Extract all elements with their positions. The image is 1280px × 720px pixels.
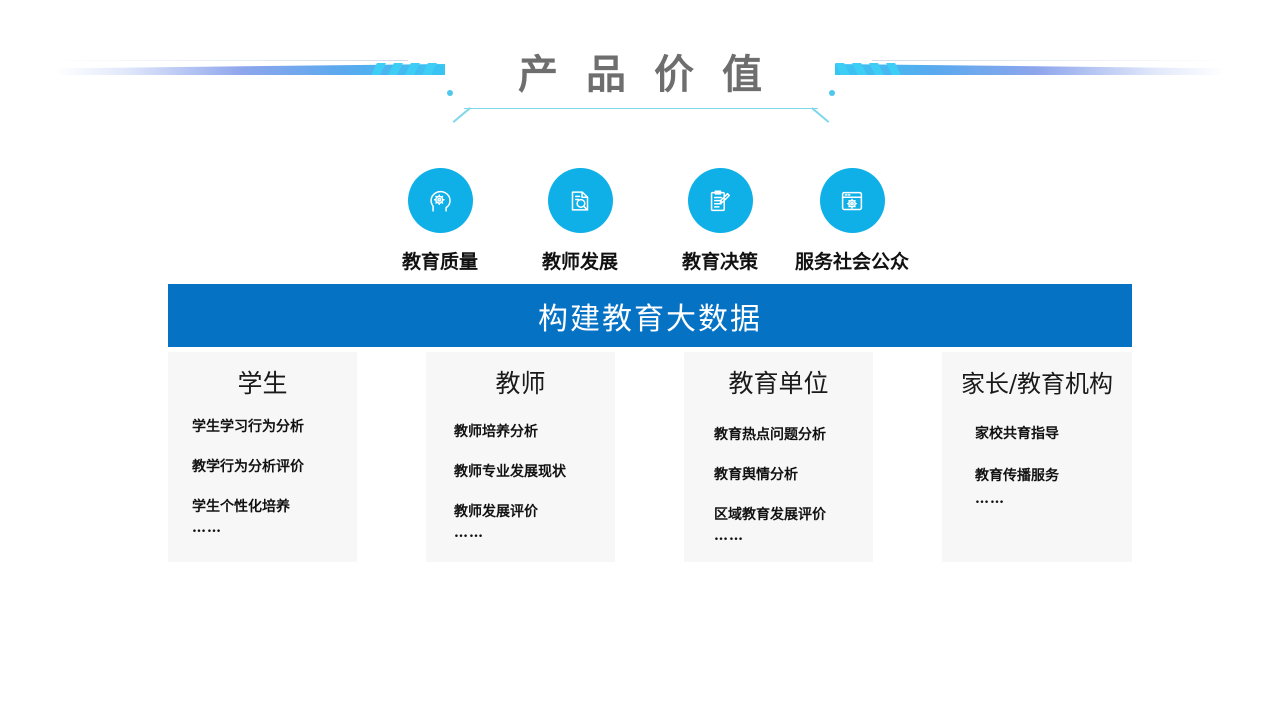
card-item-ellipsis: …… — [192, 520, 357, 536]
card-item-list: 家校共育指导 教育传播服务 …… — [942, 423, 1132, 507]
value-item-label: 教育质量 — [370, 247, 510, 274]
head-gear-icon — [408, 168, 473, 233]
card-item-list: 教师培养分析 教师专业发展现状 教师发展评价 …… — [426, 421, 615, 541]
card-item: 教育舆情分析 — [714, 464, 873, 484]
category-card-student[interactable]: 学生 学生学习行为分析 教学行为分析评价 学生个性化培养 …… — [168, 352, 357, 562]
card-item: 家校共育指导 — [975, 423, 1132, 443]
value-item-teacher-development[interactable]: 教师发展 — [510, 168, 650, 274]
card-item-list: 教育热点问题分析 教育舆情分析 区域教育发展评价 …… — [684, 424, 873, 544]
card-item: 教育热点问题分析 — [714, 424, 873, 444]
card-item: 教师培养分析 — [454, 421, 615, 441]
card-item-ellipsis: …… — [454, 525, 615, 541]
document-search-icon — [548, 168, 613, 233]
card-title: 教育单位 — [684, 364, 873, 400]
clipboard-pen-icon — [688, 168, 753, 233]
card-item: 学生学习行为分析 — [192, 416, 357, 436]
card-item: 学生个性化培养 — [192, 496, 357, 516]
card-item-ellipsis: …… — [975, 491, 1132, 507]
category-card-row: 学生 学生学习行为分析 教学行为分析评价 学生个性化培养 …… 教师 教师培养分… — [168, 352, 1132, 562]
title-bracket-decor — [450, 91, 832, 109]
card-item-list: 学生学习行为分析 教学行为分析评价 学生个性化培养 …… — [168, 416, 357, 536]
card-title: 家长/教育机构 — [942, 364, 1132, 399]
card-title: 学生 — [168, 364, 357, 400]
value-item-label: 服务社会公众 — [782, 247, 922, 274]
card-item: 教师专业发展现状 — [454, 461, 615, 481]
value-item-label: 教育决策 — [650, 247, 790, 274]
card-item: 教育传播服务 — [975, 465, 1132, 485]
browser-gear-icon — [820, 168, 885, 233]
card-item: 教学行为分析评价 — [192, 456, 357, 476]
value-icon-row: 教育质量 教师发展 教育决策 — [370, 168, 930, 278]
value-item-public-service[interactable]: 服务社会公众 — [782, 168, 922, 274]
bracket-dot-right — [829, 90, 835, 96]
card-item: 区域教育发展评价 — [714, 504, 873, 524]
value-item-education-quality[interactable]: 教育质量 — [370, 168, 510, 274]
category-card-education-unit[interactable]: 教育单位 教育热点问题分析 教育舆情分析 区域教育发展评价 …… — [684, 352, 873, 562]
value-item-label: 教师发展 — [510, 247, 650, 274]
card-item-ellipsis: …… — [714, 528, 873, 544]
bracket-dot-left — [447, 90, 453, 96]
page-header: 产品价值 — [0, 0, 1280, 130]
bracket-edge-bottom — [464, 108, 818, 110]
category-card-parent-institution[interactable]: 家长/教育机构 家校共育指导 教育传播服务 …… — [942, 352, 1132, 562]
banner-title: 构建教育大数据 — [538, 294, 762, 338]
card-item: 教师发展评价 — [454, 501, 615, 521]
category-card-teacher[interactable]: 教师 教师培养分析 教师专业发展现状 教师发展评价 …… — [426, 352, 615, 562]
value-item-education-decision[interactable]: 教育决策 — [650, 168, 790, 274]
big-data-banner: 构建教育大数据 — [168, 284, 1132, 347]
card-title: 教师 — [426, 364, 615, 400]
